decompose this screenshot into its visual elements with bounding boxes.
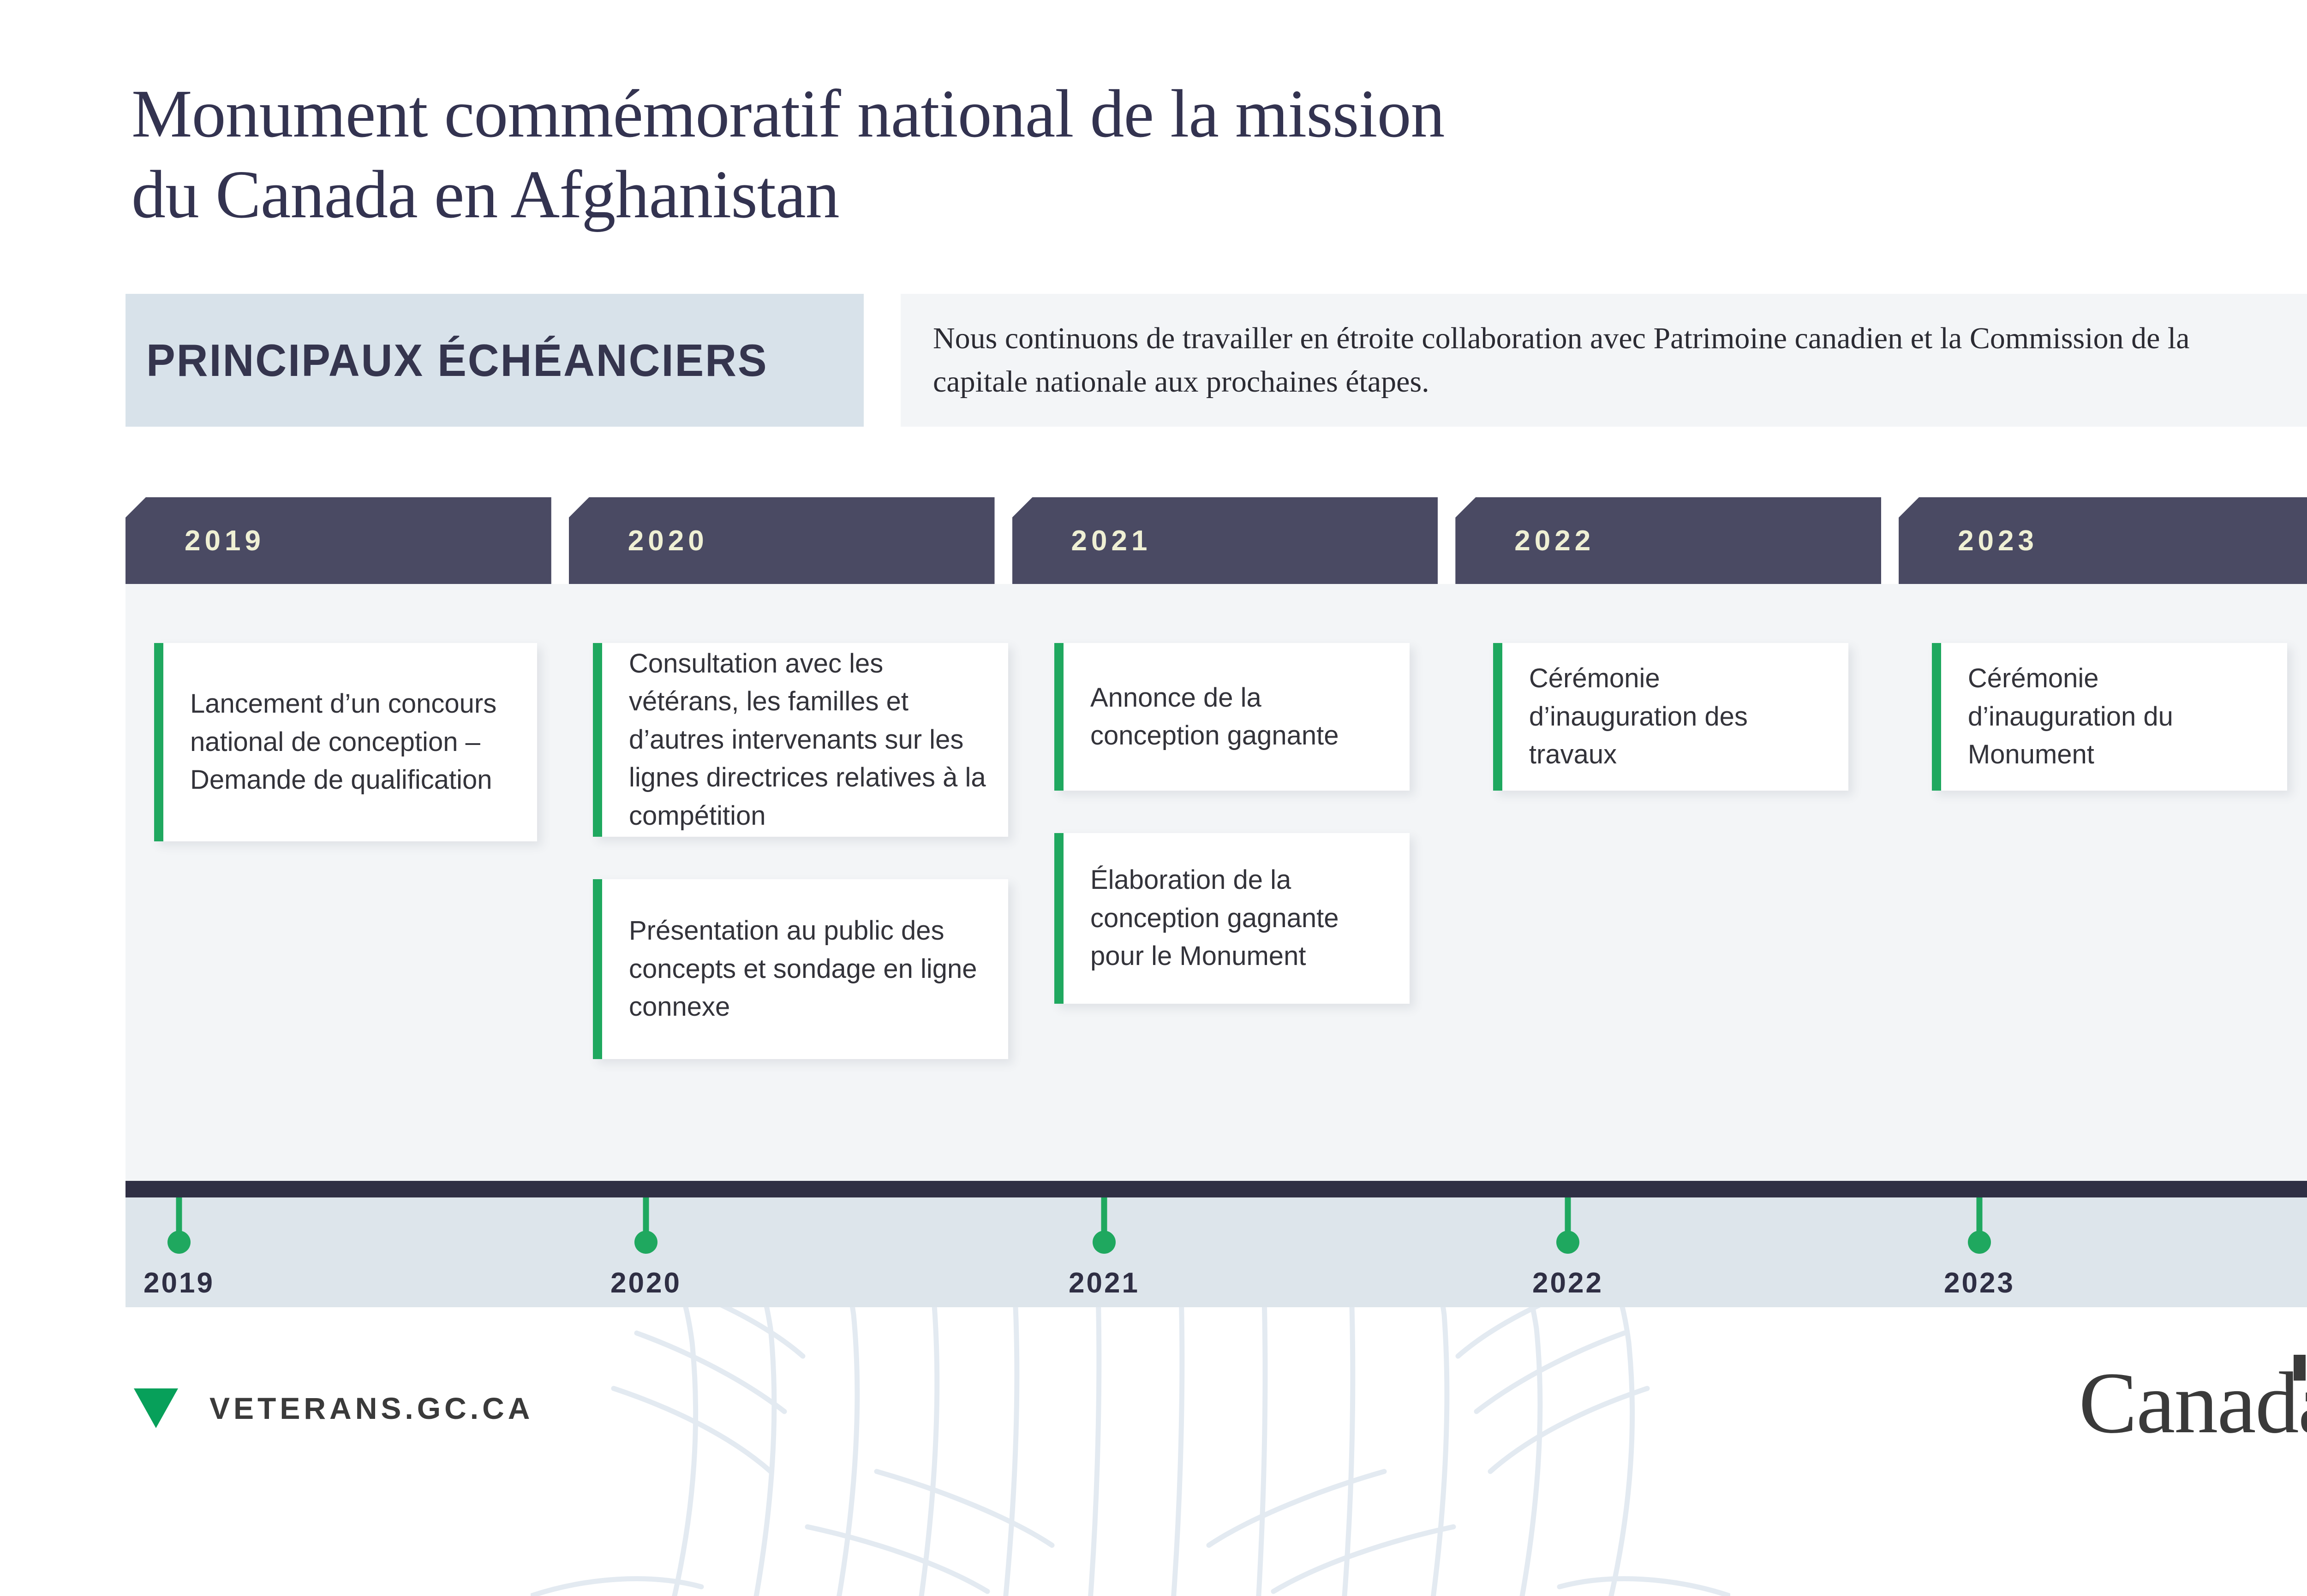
axis-marker-dot [167,1231,191,1254]
canada-flag-icon [2294,1355,2307,1381]
timeline-column-2019: Lancement d’un concours national de conc… [126,584,547,1262]
year-banner-row: 20192020202120222023 [126,497,2307,584]
axis-marker-2021: 2021 [1076,1197,1132,1308]
card-accent-bar [1054,833,1064,1004]
card-accent-bar [1493,643,1502,791]
year-banner-2021: 2021 [1012,497,1438,584]
axis-year-label: 2023 [1944,1267,2015,1299]
year-banner-label: 2023 [1958,524,2038,557]
timeline-columns: Lancement d’un concours national de conc… [126,584,2307,1262]
axis-marker-dot [634,1231,657,1254]
axis-marker-dot [1093,1231,1116,1254]
header-strip: PRINCIPAUX ÉCHÉANCIERS Nous continuons d… [126,294,2307,427]
milestone-card-text: Élaboration de la conception gagnante po… [1054,861,1410,975]
timeline-column-2022: Cérémonie d’inauguration des travaux [1464,584,1886,1262]
axis-marker-2023: 2023 [1952,1197,2007,1308]
canada-wordmark-text: Canada [2079,1363,2307,1444]
footer-veterans-link[interactable]: VETERANS.GC.CA [134,1388,533,1428]
milestone-card[interactable]: Présentation au public des concepts et s… [593,879,1008,1059]
card-accent-bar [1932,643,1941,791]
section-description: Nous continuons de travailler en étroite… [933,317,2292,403]
section-label-box: PRINCIPAUX ÉCHÉANCIERS [126,294,864,427]
card-accent-bar [154,643,163,841]
milestone-card[interactable]: Cérémonie d’inauguration des travaux [1493,643,1848,791]
year-banner-label: 2019 [185,524,265,557]
milestone-card-text: Cérémonie d’inauguration du Monument [1932,660,2287,774]
milestone-card[interactable]: Cérémonie d’inauguration du Monument [1932,643,2287,791]
milestone-card-text: Cérémonie d’inauguration des travaux [1493,660,1848,774]
card-accent-bar [1054,643,1064,791]
axis-year-label: 2021 [1069,1267,1140,1299]
milestone-card[interactable]: Annonce de la conception gagnante [1054,643,1410,791]
maple-leaf-watermark [531,1273,1730,1596]
veterans-url-label: VETERANS.GC.CA [209,1391,533,1426]
milestone-card[interactable]: Consultation avec les vétérans, les fami… [593,643,1008,837]
axis-marker-2019: 2019 [151,1197,207,1308]
milestone-card[interactable]: Lancement d’un concours national de conc… [154,643,537,841]
year-banner-label: 2021 [1071,524,1152,557]
page-title: Monument commémoratif national de la mis… [131,74,2069,235]
axis-year-label: 2022 [1532,1267,1603,1299]
milestone-card-text: Consultation avec les vétérans, les fami… [593,645,1008,835]
page-title-line-1: Monument commémoratif national de la mis… [131,74,2069,155]
axis-year-label: 2020 [610,1267,681,1299]
triangle-icon [134,1388,178,1428]
milestone-card-text: Présentation au public des concepts et s… [593,912,1008,1026]
axis-marker-2020: 2020 [618,1197,674,1308]
axis-marker-2022: 2022 [1540,1197,1596,1308]
year-banner-2023: 2023 [1899,497,2307,584]
timeline-axis-bar [126,1181,2307,1197]
page-title-line-2: du Canada en Afghanistan [131,155,2069,235]
section-label: PRINCIPAUX ÉCHÉANCIERS [146,334,768,387]
year-banner-2019: 2019 [126,497,551,584]
milestone-card[interactable]: Élaboration de la conception gagnante po… [1054,833,1410,1004]
year-banner-2020: 2020 [569,497,995,584]
timeline-column-2021: Annonce de la conception gagnanteÉlabora… [1026,584,1447,1262]
year-banner-label: 2022 [1514,524,1595,557]
timeline-column-2023: Cérémonie d’inauguration du Monument [1903,584,2307,1262]
card-accent-bar [593,879,602,1059]
year-banner-2022: 2022 [1455,497,1881,584]
milestone-card-text: Lancement d’un concours national de conc… [154,685,537,799]
timeline-column-2020: Consultation avec les vétérans, les fami… [564,584,1008,1262]
card-accent-bar [593,643,602,837]
axis-marker-dot [1556,1231,1579,1254]
canada-wordmark: Canada [2079,1363,2307,1444]
axis-marker-dot [1968,1231,1991,1254]
milestone-card-text: Annonce de la conception gagnante [1054,679,1410,755]
year-banner-label: 2020 [628,524,708,557]
section-description-box: Nous continuons de travailler en étroite… [901,294,2307,427]
axis-year-label: 2019 [143,1267,215,1299]
